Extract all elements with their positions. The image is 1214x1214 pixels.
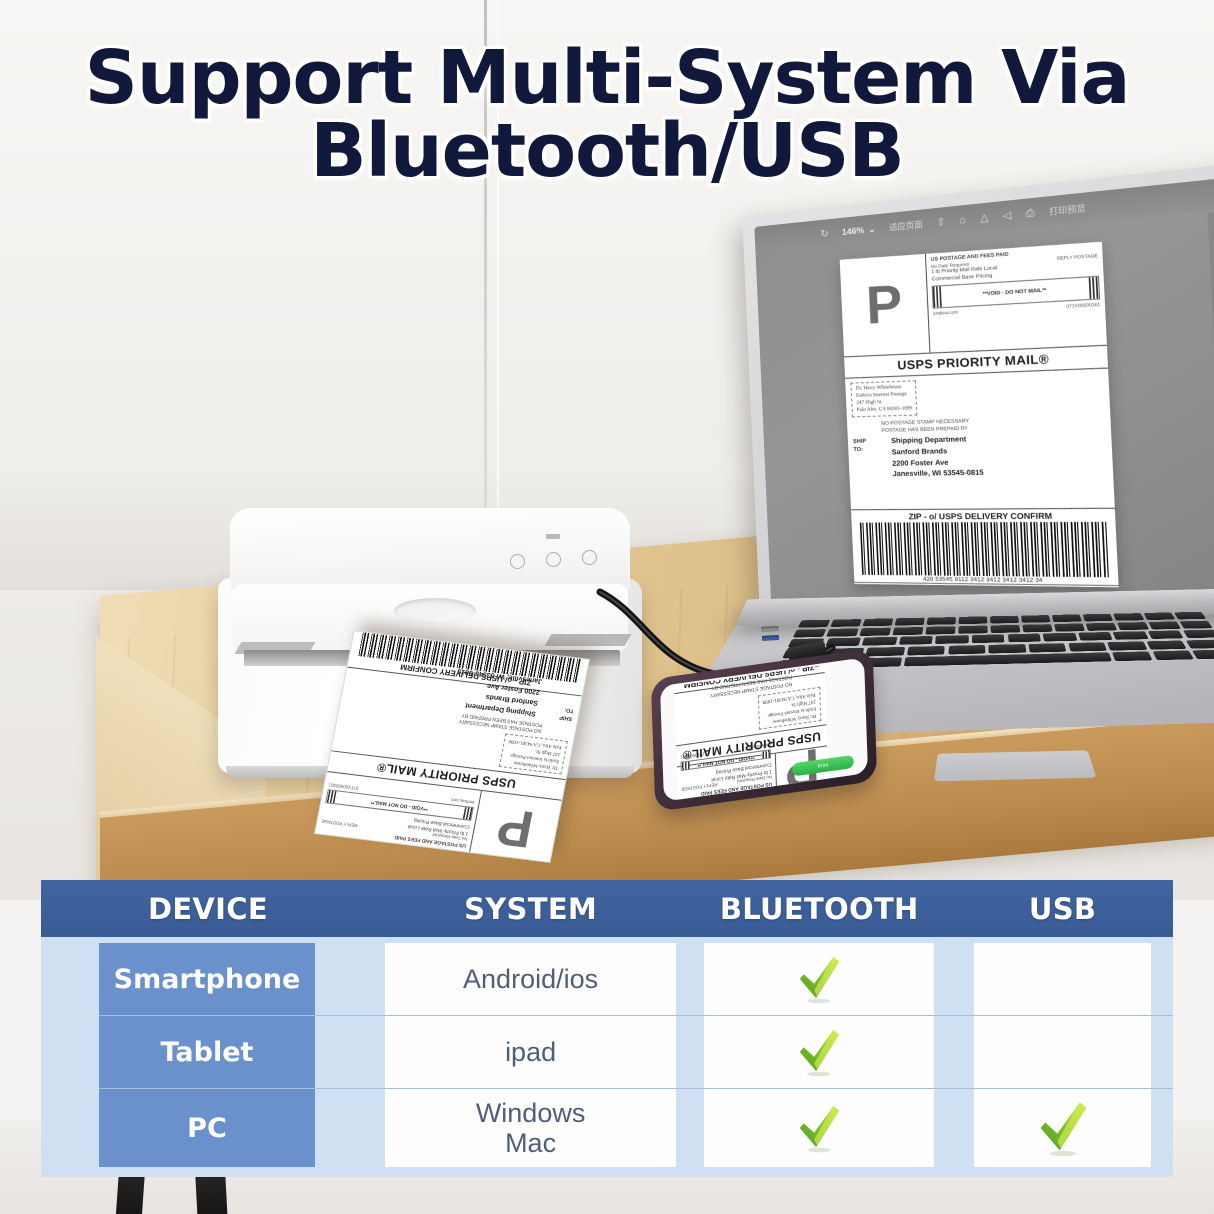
laptop-lid: ↻ 146% ⌄ 适应页面 ⇧ ⌂ △ ◁ ⎙ 打印预览 P: [742, 162, 1214, 618]
label-barcode: [860, 522, 1109, 577]
key[interactable]: [1185, 639, 1214, 648]
key[interactable]: [1113, 631, 1148, 640]
key[interactable]: [1117, 622, 1149, 630]
device-label-smartphone: Smartphone: [99, 943, 315, 1015]
cell-device: Smartphone: [41, 943, 375, 1015]
table-row: Tablet ipad: [41, 1016, 1173, 1088]
key[interactable]: [1174, 612, 1206, 620]
label-ship-to-label: SHIPTO:: [853, 437, 868, 482]
key[interactable]: [1107, 641, 1147, 650]
share-icon[interactable]: ⇧: [936, 216, 945, 228]
page-title: Support Multi-System Via Bluetooth/USB: [0, 42, 1214, 187]
key[interactable]: [895, 618, 925, 626]
print-preview-label[interactable]: 打印预览: [1049, 202, 1086, 217]
key[interactable]: [1152, 650, 1193, 660]
label-endicia: endicia.com: [933, 309, 958, 316]
table-row: PC Windows Mac: [41, 1089, 1173, 1167]
laptop-screen: ↻ 146% ⌄ 适应页面 ⇧ ⌂ △ ◁ ⎙ 打印预览 P: [754, 177, 1214, 604]
cell-bluetooth: [686, 1016, 952, 1088]
key[interactable]: [935, 635, 968, 644]
bluetooth-support-tablet: [704, 1016, 934, 1088]
fit-page-label[interactable]: 适应页面: [889, 218, 923, 233]
system-label-pc-line2: Mac: [505, 1128, 556, 1158]
key[interactable]: [1007, 634, 1041, 643]
key[interactable]: [1183, 630, 1214, 639]
key[interactable]: [991, 625, 1021, 633]
refresh-icon[interactable]: ↻: [820, 228, 829, 240]
label-p-box: P: [840, 254, 931, 357]
headline-line-2: Bluetooth/USB: [0, 115, 1214, 188]
printer-bluetooth-icon[interactable]: [582, 550, 597, 565]
green-check-icon: [796, 1027, 842, 1077]
key[interactable]: [1148, 630, 1184, 639]
printer-power-icon[interactable]: [510, 554, 525, 569]
key[interactable]: [959, 616, 988, 624]
table-header-row: DEVICE SYSTEM BLUETOOTH USB: [41, 880, 1173, 937]
label-postage-info: US POSTAGE AND FEES PAID No Date Require…: [926, 242, 1107, 353]
key[interactable]: [1180, 620, 1213, 628]
key[interactable]: [1192, 650, 1214, 660]
label-p-glyph: P: [865, 284, 903, 328]
system-label-pc-line1: Windows: [476, 1098, 586, 1128]
green-check-icon: [796, 954, 842, 1004]
key[interactable]: [1144, 612, 1176, 620]
key[interactable]: [1113, 613, 1144, 621]
label-p-box: P: [469, 791, 561, 861]
cell-bluetooth: [686, 943, 952, 1015]
spacebar-key[interactable]: [904, 652, 1112, 666]
label-from-block: Dr. Harry Whitehouse Endicia Internet Po…: [850, 381, 917, 418]
key[interactable]: [1021, 615, 1050, 623]
key[interactable]: [1086, 623, 1117, 631]
headline-line-1: Support Multi-System Via: [0, 42, 1214, 115]
cell-usb: [952, 1016, 1173, 1088]
device-label-pc: PC: [99, 1089, 315, 1167]
label-zip-line: ZIP - o/ USPS DELIVERY CONFIRM: [851, 508, 1115, 523]
key[interactable]: [989, 644, 1027, 653]
column-header-system: SYSTEM: [375, 892, 686, 926]
key[interactable]: [863, 618, 894, 626]
zoom-control[interactable]: 146% ⌄: [842, 223, 876, 238]
system-label-smartphone: Android/ios: [385, 943, 676, 1015]
print-icon[interactable]: ⎙: [1025, 207, 1034, 220]
key[interactable]: [1052, 614, 1082, 622]
usb-support-smartphone: [974, 943, 1151, 1015]
key[interactable]: [899, 636, 933, 645]
bluetooth-support-pc: [704, 1089, 934, 1167]
laptop-usps-label-preview: P US POSTAGE AND FEES PAID No Date Requi…: [840, 242, 1119, 587]
key[interactable]: [990, 616, 1019, 624]
compatibility-table: DEVICE SYSTEM BLUETOOTH USB Smartphone A…: [41, 880, 1173, 1177]
cell-device: PC: [41, 1089, 375, 1167]
key[interactable]: [1148, 621, 1180, 629]
green-check-icon: [796, 1103, 842, 1153]
label-ship-to-address: Shipping Department Sanford Brands 2200 …: [891, 435, 984, 482]
printer-status-led: [546, 534, 560, 539]
cell-usb: [952, 943, 1173, 1015]
cell-device: Tablet: [41, 1016, 375, 1088]
label-serial: 071V00500361: [1066, 301, 1100, 308]
usb-support-pc: [974, 1089, 1151, 1167]
key[interactable]: [1022, 624, 1052, 632]
key[interactable]: [926, 626, 956, 634]
zoom-level-value: 146%: [842, 225, 865, 237]
key[interactable]: [1146, 640, 1186, 649]
system-label-tablet: ipad: [385, 1016, 676, 1088]
send-icon[interactable]: ◁: [1002, 209, 1011, 221]
cell-usb: [952, 1089, 1173, 1167]
key[interactable]: [862, 637, 897, 646]
table-row: Smartphone Android/ios: [41, 943, 1173, 1015]
printer-feed-icon[interactable]: [546, 552, 561, 567]
usb-support-tablet: [974, 1016, 1151, 1088]
warning-icon[interactable]: △: [980, 212, 989, 224]
key[interactable]: [958, 625, 987, 633]
cell-system: ipad: [375, 1016, 686, 1088]
key[interactable]: [1083, 614, 1113, 622]
green-check-icon: [1036, 1099, 1090, 1157]
key[interactable]: [1068, 642, 1107, 651]
bluetooth-support-smartphone: [704, 943, 934, 1015]
column-header-usb: USB: [952, 892, 1173, 926]
cell-system: Android/ios: [375, 943, 686, 1015]
chevron-down-icon: ⌄: [868, 223, 876, 235]
label-from-block: Dr. Harry Whitehouse Endicia Internet Po…: [757, 687, 821, 730]
key[interactable]: [860, 627, 892, 635]
printed-usps-label: P US POSTAGE AND FEES PAID No Date Requi…: [314, 630, 590, 863]
product-marketing-image: P US POSTAGE AND FEES PAID No Date Requi…: [0, 0, 1214, 1214]
cell-bluetooth: [686, 1089, 952, 1167]
key[interactable]: [1054, 623, 1085, 631]
key[interactable]: [1112, 651, 1153, 661]
home-icon[interactable]: ⌂: [959, 214, 966, 226]
device-label-tablet: Tablet: [99, 1016, 315, 1088]
system-label-pc: Windows Mac: [385, 1089, 676, 1167]
key[interactable]: [972, 634, 1005, 643]
cell-system: Windows Mac: [375, 1089, 686, 1167]
key[interactable]: [1028, 643, 1066, 652]
column-header-device: DEVICE: [41, 892, 375, 926]
key[interactable]: [948, 645, 985, 654]
printer-lid-grip[interactable]: [394, 598, 476, 624]
label-from-block: Dr. Harry Whitehouse Endicia Internet Po…: [498, 734, 567, 775]
label-from-city: Palo Alto, CA 94301-1099: [857, 406, 913, 415]
key[interactable]: [1078, 632, 1113, 641]
label-p-glyph: P: [494, 805, 536, 849]
key[interactable]: [907, 646, 945, 655]
laptop-trackpad[interactable]: [934, 750, 1096, 781]
table-body: Smartphone Android/ios: [41, 937, 1173, 1177]
key[interactable]: [927, 617, 956, 625]
key[interactable]: [1043, 633, 1077, 642]
printer-top-cover: [230, 508, 630, 594]
column-header-bluetooth: BLUETOOTH: [686, 892, 952, 926]
label-to-city: Janesville, WI 53545-0815: [892, 469, 984, 482]
phone-usps-label-preview: P US POSTAGE AND FEES PAID No Date Requi…: [674, 665, 829, 802]
key[interactable]: [893, 627, 924, 635]
print-preview-sidebar: [1207, 210, 1214, 589]
label-void-text: **VOID - DO NOT MAIL**: [942, 285, 1089, 300]
